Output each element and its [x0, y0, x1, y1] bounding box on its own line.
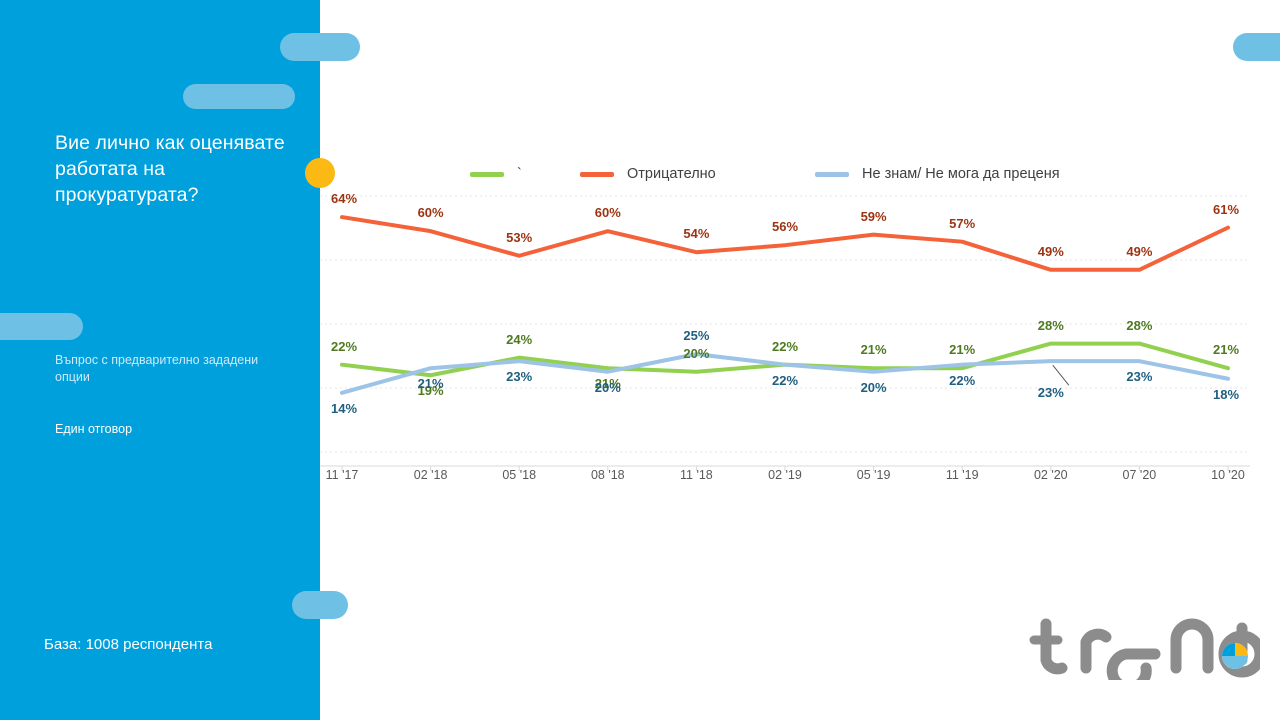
data-point-label: 21% [1213, 342, 1239, 357]
decor-pill-4 [292, 591, 348, 619]
x-axis-tick-label: 02 '18 [414, 468, 448, 482]
decor-pill-2 [280, 33, 360, 61]
data-point-label: 18% [1213, 387, 1239, 402]
data-point-label: 22% [949, 373, 975, 388]
data-point-label: 23% [1126, 369, 1152, 384]
data-point-label: 20% [683, 346, 709, 361]
trend-logo [1028, 618, 1260, 680]
x-axis-tick-label: 02 '19 [768, 468, 802, 482]
x-axis-tick-label: 05 '18 [502, 468, 536, 482]
x-axis-tick-label: 02 '20 [1034, 468, 1068, 482]
data-point-label: 22% [331, 339, 357, 354]
data-point-label: 60% [418, 205, 444, 220]
data-point-label: 57% [949, 216, 975, 231]
data-point-label: 56% [772, 219, 798, 234]
data-point-label: 54% [683, 226, 709, 241]
page-title: Вие лично как оценявате работата на прок… [55, 130, 300, 208]
data-point-label: 23% [506, 369, 532, 384]
decor-pill-5 [1233, 33, 1280, 61]
question-subtitle: Въпрос с предварително зададени опции [55, 352, 295, 386]
data-point-label: 24% [506, 332, 532, 347]
data-point-label: 21% [418, 376, 444, 391]
data-point-label: 64% [331, 191, 357, 206]
x-axis-tick-label: 11 '17 [326, 468, 359, 482]
data-point-label: 14% [331, 401, 357, 416]
data-point-label: 21% [949, 342, 975, 357]
data-point-label: 28% [1038, 318, 1064, 333]
x-axis-tick-label: 05 '19 [857, 468, 891, 482]
data-point-label: 20% [861, 380, 887, 395]
data-point-label: 28% [1126, 318, 1152, 333]
data-point-label: 59% [861, 209, 887, 224]
data-point-label: 53% [506, 230, 532, 245]
label-leader-line [1053, 365, 1069, 385]
data-point-label: 21% [861, 342, 887, 357]
chart-svg [320, 140, 1250, 480]
data-point-label: 23% [1038, 385, 1064, 400]
decor-pill-1 [183, 84, 295, 109]
slide-canvas: Вие лично как оценявате работата на прок… [0, 0, 1280, 720]
x-axis-tick-label: 11 '18 [680, 468, 713, 482]
data-point-label: 22% [772, 339, 798, 354]
data-point-label: 60% [595, 205, 621, 220]
data-point-label: 49% [1038, 244, 1064, 259]
data-point-label: 61% [1213, 202, 1239, 217]
answer-type-label: Един отговор [55, 421, 295, 437]
line-chart-plot [320, 140, 1250, 480]
decor-pill-3 [0, 313, 83, 340]
x-axis-tick-label: 07 '20 [1123, 468, 1157, 482]
x-axis-tick-label: 11 '19 [946, 468, 979, 482]
data-point-label: 49% [1126, 244, 1152, 259]
x-axis-tick-label: 08 '18 [591, 468, 625, 482]
data-point-label: 25% [683, 328, 709, 343]
base-label: База: 1008 респондента [44, 636, 212, 653]
x-axis: 11 '1702 '1805 '1808 '1811 '1802 '1905 '… [320, 468, 1250, 488]
data-point-label: 20% [595, 380, 621, 395]
x-axis-tick-label: 10 '20 [1211, 468, 1245, 482]
data-point-label: 22% [772, 373, 798, 388]
